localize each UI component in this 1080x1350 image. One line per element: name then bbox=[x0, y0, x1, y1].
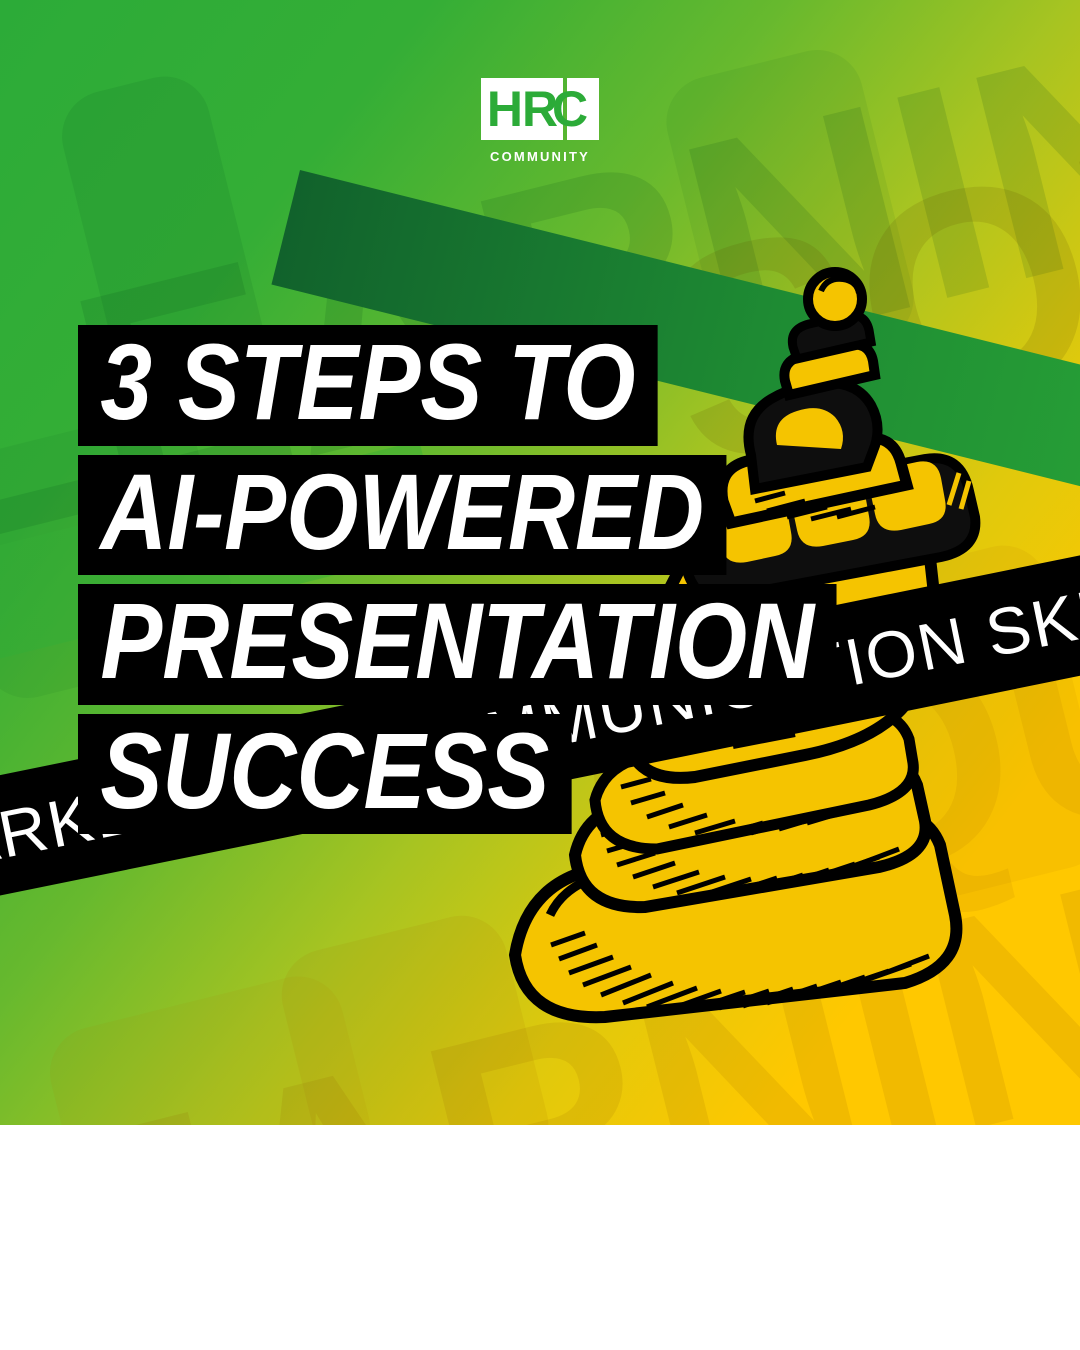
headline: 3 STEPS TO AI-POWERED PRESENTATION SUCCE… bbox=[78, 325, 960, 834]
hrc-logo-box-left: HR bbox=[481, 78, 563, 140]
hrc-logo-box-right: C bbox=[567, 78, 599, 140]
headline-line-1: 3 STEPS TO bbox=[78, 325, 658, 446]
headline-line-4: SUCCESS bbox=[78, 714, 572, 835]
artwork-area: LEARNING SQUARE LEARNING SQUARE bbox=[0, 0, 1080, 1125]
headline-line-2: AI-POWERED bbox=[78, 455, 726, 576]
hrc-logo-mark: HR C bbox=[481, 78, 599, 140]
hrc-logo: HR C COMMUNITY bbox=[0, 78, 1080, 164]
headline-line-3: PRESENTATION bbox=[78, 584, 837, 705]
hrc-logo-subtitle: COMMUNITY bbox=[490, 149, 590, 164]
hrc-logo-letters: HR bbox=[487, 84, 557, 134]
footer: LEARNING SQUARE MARKETING & COMMUNCATION… bbox=[0, 1125, 1080, 1350]
poster: LEARNING SQUARE LEARNING SQUARE bbox=[0, 0, 1080, 1350]
hrc-logo-letter-c: C bbox=[552, 84, 588, 134]
